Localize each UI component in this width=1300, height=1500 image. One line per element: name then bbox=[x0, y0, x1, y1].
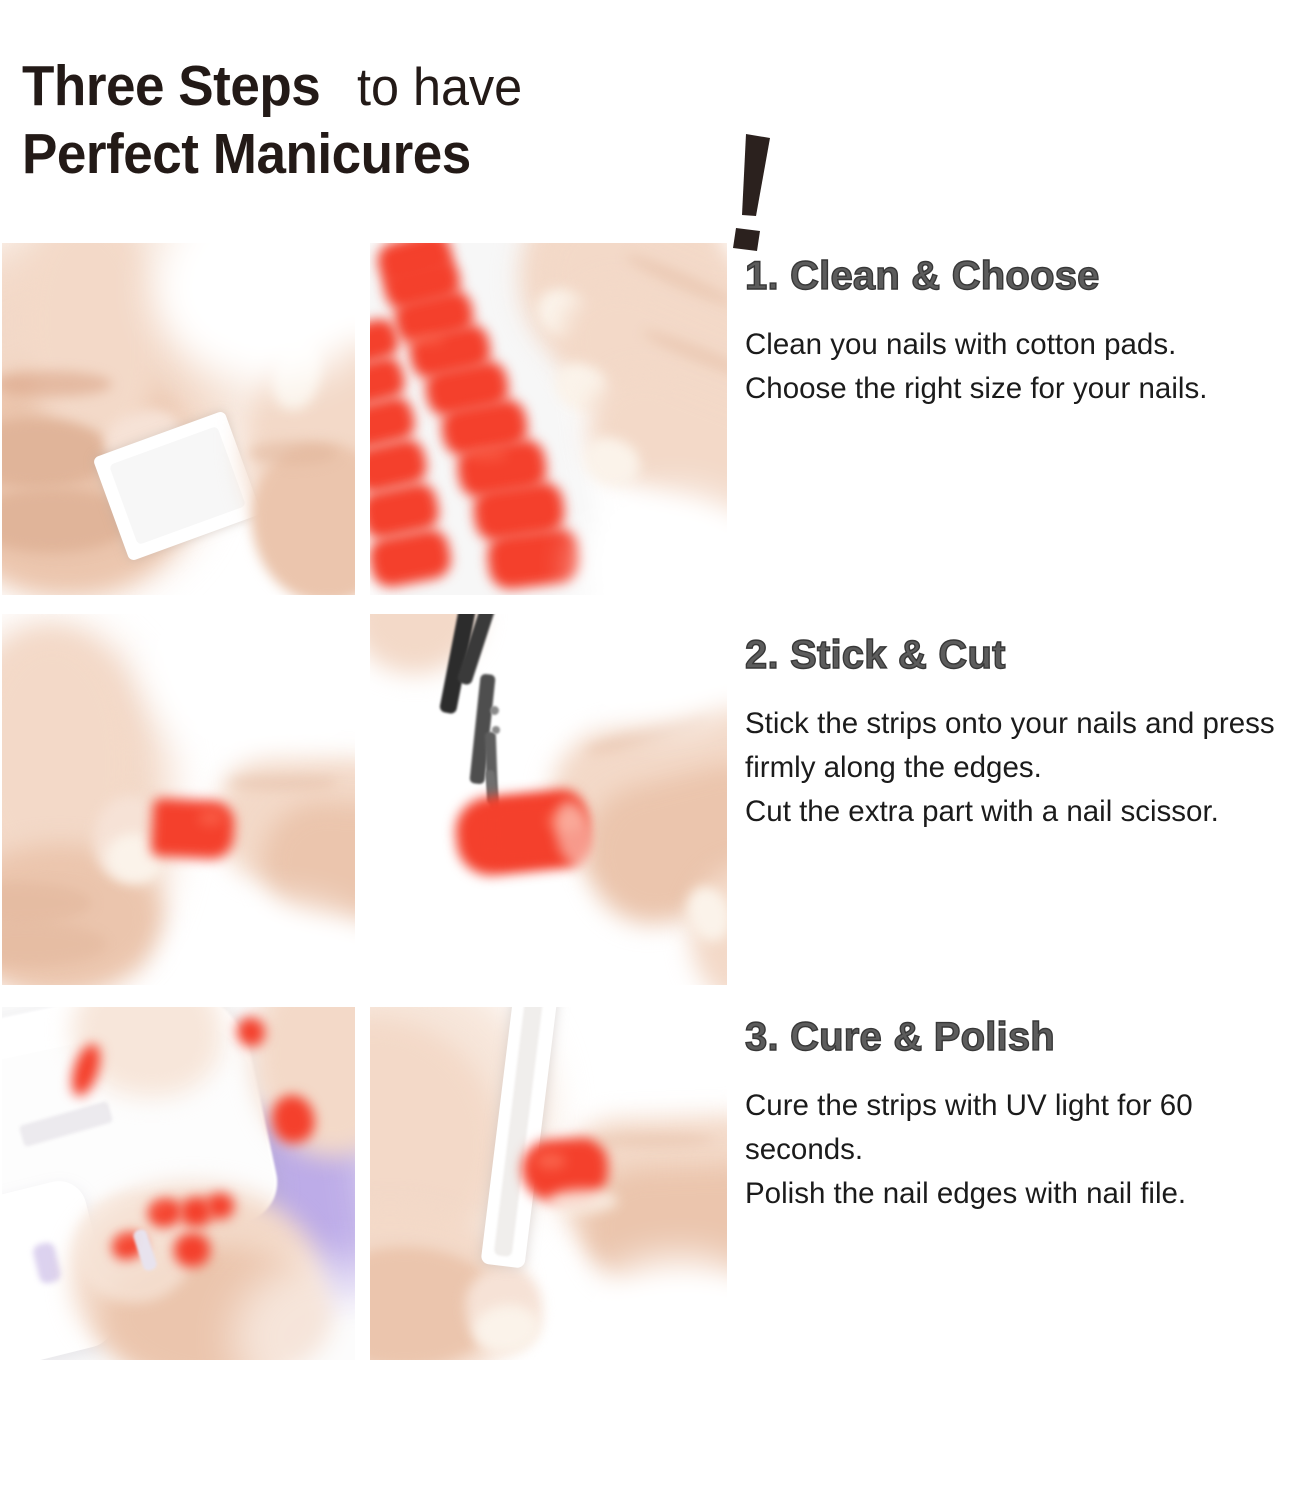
photo-stick-strip-on-nail bbox=[2, 614, 355, 985]
step-2-heading: 2. Stick & Cut bbox=[745, 634, 1300, 676]
step-3-body: Cure the strips with UV light for 60 sec… bbox=[745, 1084, 1300, 1216]
step-3-text: 3. Cure & Polish Cure the strips with UV… bbox=[745, 1016, 1300, 1216]
photo-clean-nail-with-cotton-pad bbox=[2, 243, 355, 595]
title-light-one: to have bbox=[357, 61, 522, 114]
step-1-body: Clean you nails with cotton pads. Choose… bbox=[745, 323, 1300, 411]
step-1-text: 1. Clean & Choose Clean you nails with c… bbox=[745, 255, 1300, 411]
title-strong-two: Perfect Manicures bbox=[22, 126, 471, 183]
step-2-text: 2. Stick & Cut Stick the strips onto you… bbox=[745, 634, 1300, 834]
title-line-one: Three Stepsto have bbox=[22, 58, 531, 115]
photo-cut-extra-with-scissor bbox=[370, 614, 727, 985]
photo-nail-strip-sheet-and-fingers bbox=[370, 243, 727, 595]
exclamation-mark-icon bbox=[722, 132, 792, 252]
title-strong-one: Three Steps bbox=[22, 58, 320, 115]
step-3-heading: 3. Cure & Polish bbox=[745, 1016, 1300, 1058]
page-title: Three Stepsto have Perfect Manicures bbox=[22, 58, 782, 208]
photo-cure-under-uv-lamp bbox=[2, 1007, 355, 1360]
step-1-heading: 1. Clean & Choose bbox=[745, 255, 1300, 297]
photo-polish-edges-with-nail-file bbox=[370, 1007, 727, 1360]
title-line-two: Perfect Manicures bbox=[22, 126, 505, 183]
step-2-body: Stick the strips onto your nails and pre… bbox=[745, 702, 1300, 834]
